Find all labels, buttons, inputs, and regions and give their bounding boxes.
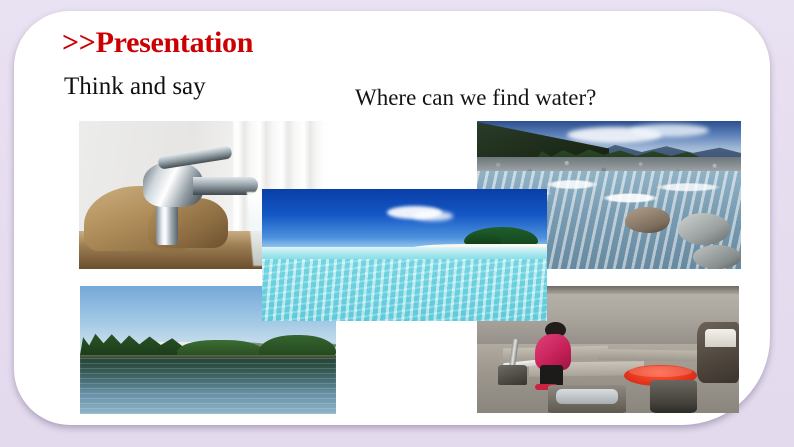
river-rock-brown: [625, 207, 670, 234]
page-title: >>Presentation: [62, 27, 253, 59]
lake-ripples: [80, 358, 336, 414]
subtitle-think-and-say: Think and say: [64, 73, 206, 101]
river-rock-bottom: [693, 245, 741, 269]
beach-cloud-small: [413, 211, 453, 220]
presentation-slide: >>Presentation Think and say Where can w…: [0, 0, 794, 447]
well-grey-bucket: [650, 380, 697, 413]
slide-content-card: >>Presentation Think and say Where can w…: [14, 11, 770, 425]
question-prompt: Where can we find water?: [355, 85, 596, 111]
photo-beach: [262, 189, 547, 321]
well-trough-water: [556, 389, 619, 404]
beach-lagoon: [262, 259, 547, 321]
beach-scene: [262, 189, 547, 321]
well-pump-base: [498, 365, 527, 385]
well-white-container: [705, 329, 736, 347]
